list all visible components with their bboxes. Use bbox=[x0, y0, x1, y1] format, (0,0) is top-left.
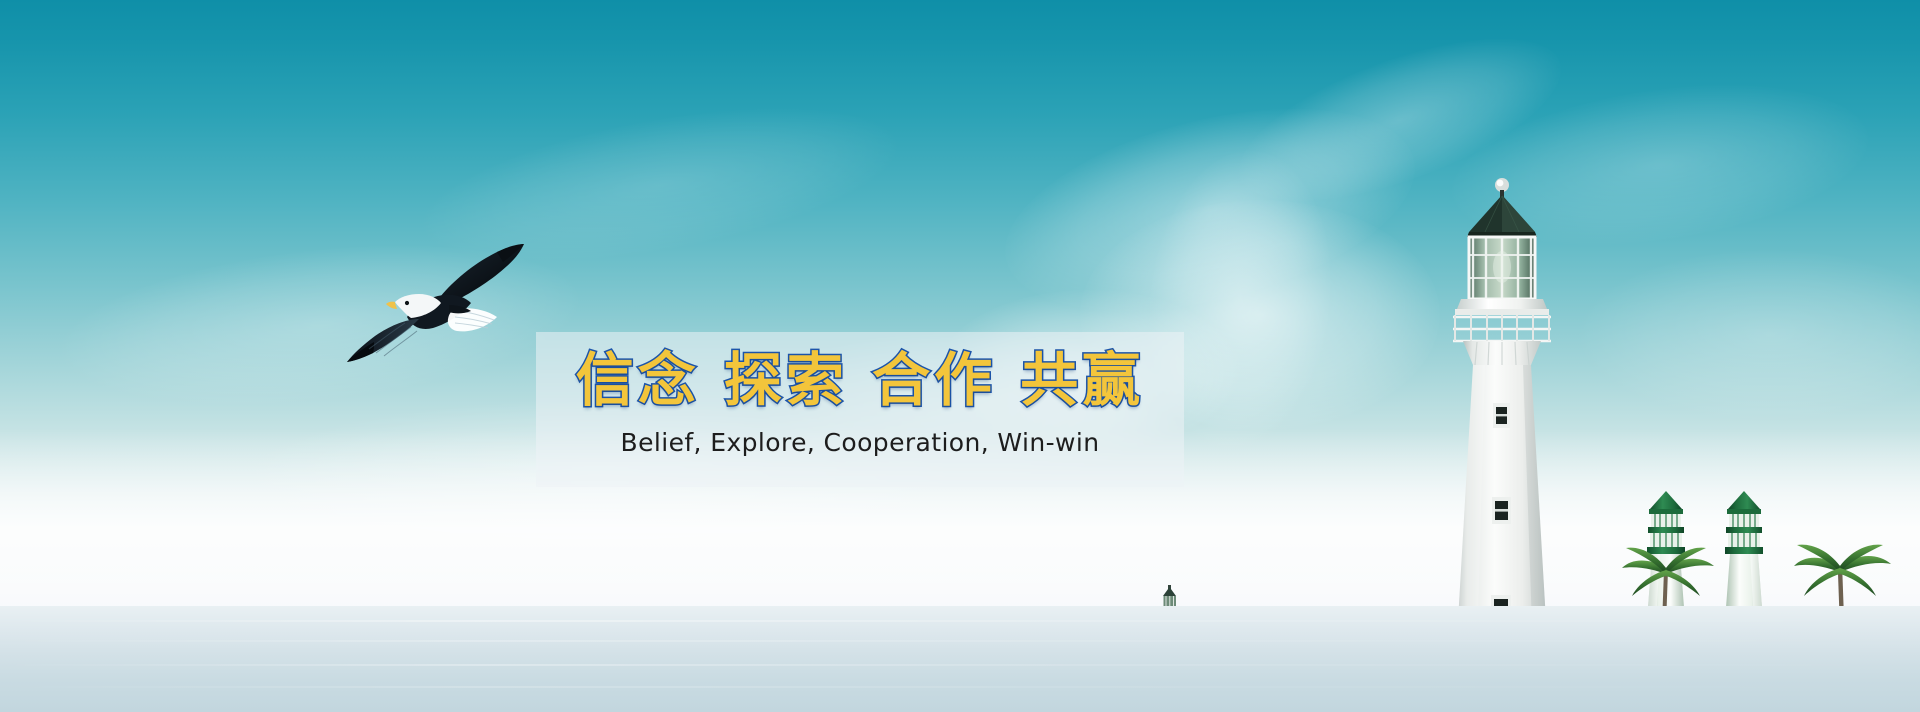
slogan-title-cn: 信念 探索 合作 共赢 bbox=[536, 338, 1184, 422]
eagle-icon bbox=[345, 235, 530, 380]
lighthouse-icon bbox=[1425, 175, 1580, 655]
hero-banner: 信念 探索 合作 共赢 Belief, Explore, Cooperation… bbox=[0, 0, 1920, 712]
sea-water bbox=[0, 606, 1920, 712]
slogan-panel: 信念 探索 合作 共赢 Belief, Explore, Cooperation… bbox=[536, 332, 1184, 487]
slogan-subtitle-en: Belief, Explore, Cooperation, Win-win bbox=[536, 428, 1184, 457]
